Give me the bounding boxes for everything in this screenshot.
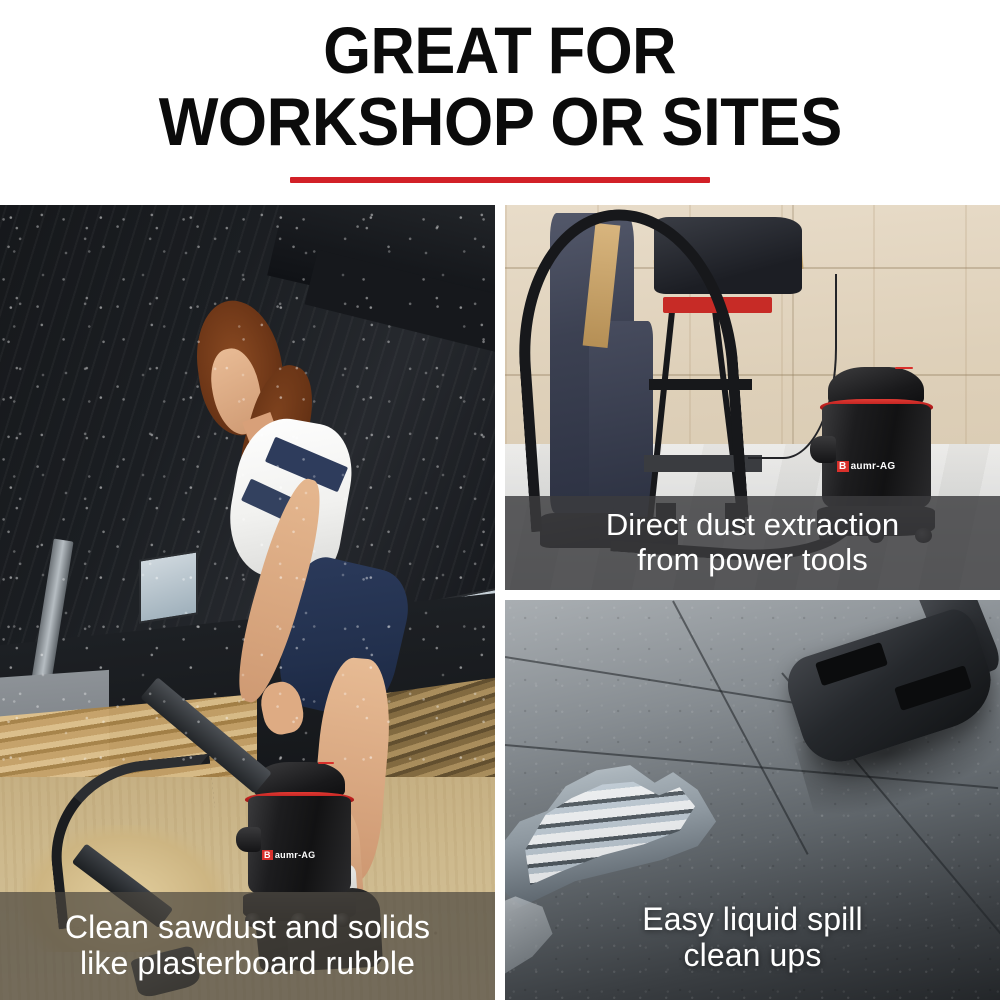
brand-mark-letter: B <box>837 461 849 472</box>
caption-bl-line-2: like plasterboard rubble <box>65 946 430 982</box>
header-banner: GREAT FOR WORKSHOP OR SITES <box>0 0 1000 205</box>
brand-name-rest: aumr-AG <box>851 461 896 472</box>
headline-line-1: GREAT FOR <box>324 18 677 83</box>
brand-name-rest: aumr-AG <box>275 850 316 860</box>
caption-br-line-1: Easy liquid spill <box>642 902 862 938</box>
vacuum-tank-body: Baumr-AG <box>248 796 352 895</box>
caption-tr-line-2: from power tools <box>606 543 899 578</box>
caption-br-line-2: clean ups <box>642 938 862 974</box>
workshop-window-left <box>139 550 198 623</box>
caption-bl-line-1: Clean sawdust and solids <box>65 910 430 946</box>
caption-dust-extraction: Direct dust extraction from power tools <box>505 496 1000 590</box>
promo-collage: GREAT FOR WORKSHOP OR SITES <box>0 0 1000 1000</box>
panel-dust-extraction: Baumr-AG Direct dust extraction from pow… <box>505 205 1000 590</box>
panel-liquid-spill: Easy liquid spill clean ups <box>505 600 1000 1000</box>
panel-clean-sawdust: Baumr-AG Clean sawdust and solids like p… <box>0 205 495 1000</box>
scene-workshop-sawdust: Baumr-AG <box>0 205 495 1000</box>
brand-logo: Baumr-AG <box>837 461 895 472</box>
caption-tr-line-1: Direct dust extraction <box>606 508 899 543</box>
headline-line-2: WORKSHOP OR SITES <box>158 89 841 156</box>
vacuum-head-red-latch <box>895 367 912 369</box>
brand-logo: Baumr-AG <box>262 850 315 860</box>
vacuum-hose-inlet <box>810 436 836 463</box>
vacuum-hose-inlet <box>236 827 261 852</box>
headline-underline-rule <box>290 177 710 183</box>
vacuum-head-red-latch <box>318 762 334 764</box>
caption-liquid-spill: Easy liquid spill clean ups <box>505 886 1000 990</box>
vacuum-tank-body: Baumr-AG <box>822 404 931 509</box>
caption-clean-sawdust: Clean sawdust and solids like plasterboa… <box>0 892 495 1000</box>
brand-mark-letter: B <box>262 850 273 860</box>
